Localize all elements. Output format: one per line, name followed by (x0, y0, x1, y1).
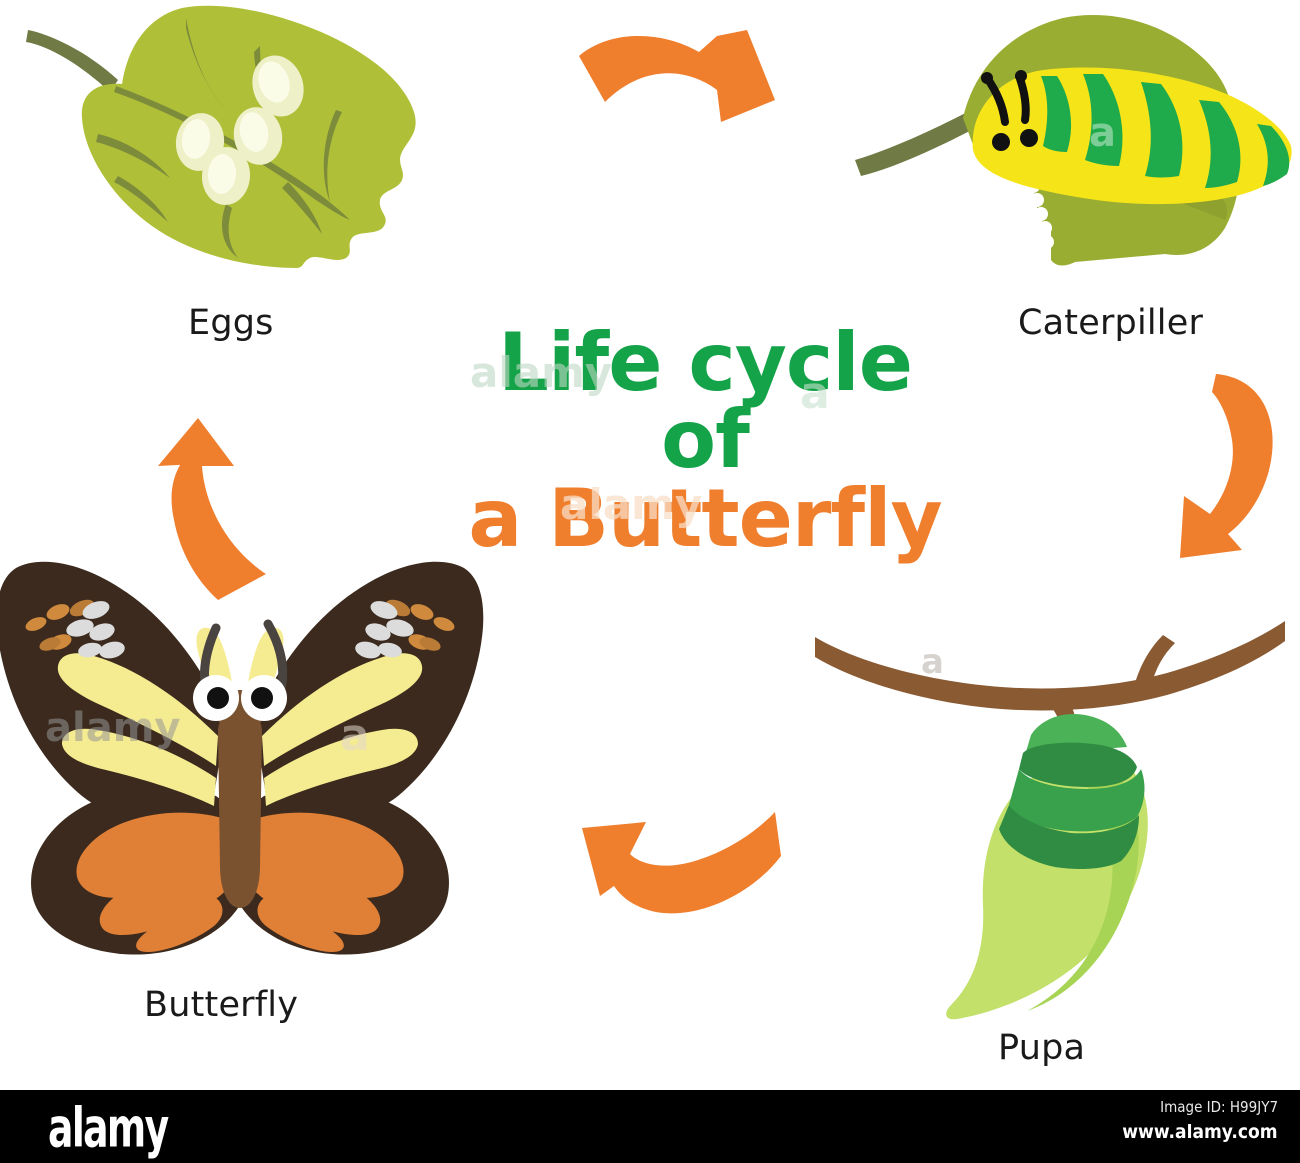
antenna-tip (981, 72, 993, 84)
alamy-logo: alamy (48, 1096, 168, 1160)
arrow-pupa-to-butterfly (570, 808, 785, 923)
butterfly-pupil (251, 687, 273, 709)
arrow-eggs-to-caterpiller (575, 28, 790, 143)
caterpillar-on-leaf-icon (845, 0, 1300, 300)
title-line-1: Life cycle of (450, 325, 960, 479)
life-cycle-infographic: a a a (0, 0, 1300, 1163)
alamy-watermark-bar: alamy Image ID: H99JY7 www.alamy.com (0, 1090, 1300, 1163)
curved-arrow-left-icon (570, 808, 785, 923)
stage-label-caterpiller: Caterpiller (1018, 303, 1203, 343)
caterpiller-illustration: a (845, 0, 1300, 300)
butterfly-body (218, 708, 262, 908)
title-line-2: a Butterfly (450, 481, 960, 558)
alamy-url-text: www.alamy.com (1123, 1121, 1278, 1143)
chrysalis-on-branch-icon (815, 605, 1285, 1025)
arrow-butterfly-to-eggs (148, 408, 283, 603)
leaf-stem (26, 30, 118, 92)
stage-label-pupa: Pupa (998, 1028, 1085, 1068)
curved-arrow-up-icon (148, 408, 283, 603)
pupa-illustration: a a (815, 605, 1285, 1025)
monarch-butterfly-icon (0, 550, 490, 970)
butterfly-illustration: alamy a (0, 550, 490, 970)
branch (815, 621, 1285, 710)
page-title: Life cycle of a Butterfly (450, 325, 960, 557)
arrow-caterpiller-to-pupa (1158, 368, 1293, 563)
image-id-text: Image ID: H99JY7 (1160, 1098, 1278, 1116)
eggs-illustration (10, 0, 440, 300)
antenna-tip (1015, 70, 1027, 82)
butterfly-pupil (207, 687, 229, 709)
caterpillar-eye (1020, 129, 1038, 147)
caterpillar-eye (992, 133, 1010, 151)
stage-label-butterfly: Butterfly (144, 985, 298, 1025)
curved-arrow-down-icon (1158, 368, 1293, 563)
leaf-with-eggs-icon (10, 0, 440, 300)
curved-arrow-right-icon (575, 28, 790, 143)
stage-label-eggs: Eggs (188, 303, 274, 343)
